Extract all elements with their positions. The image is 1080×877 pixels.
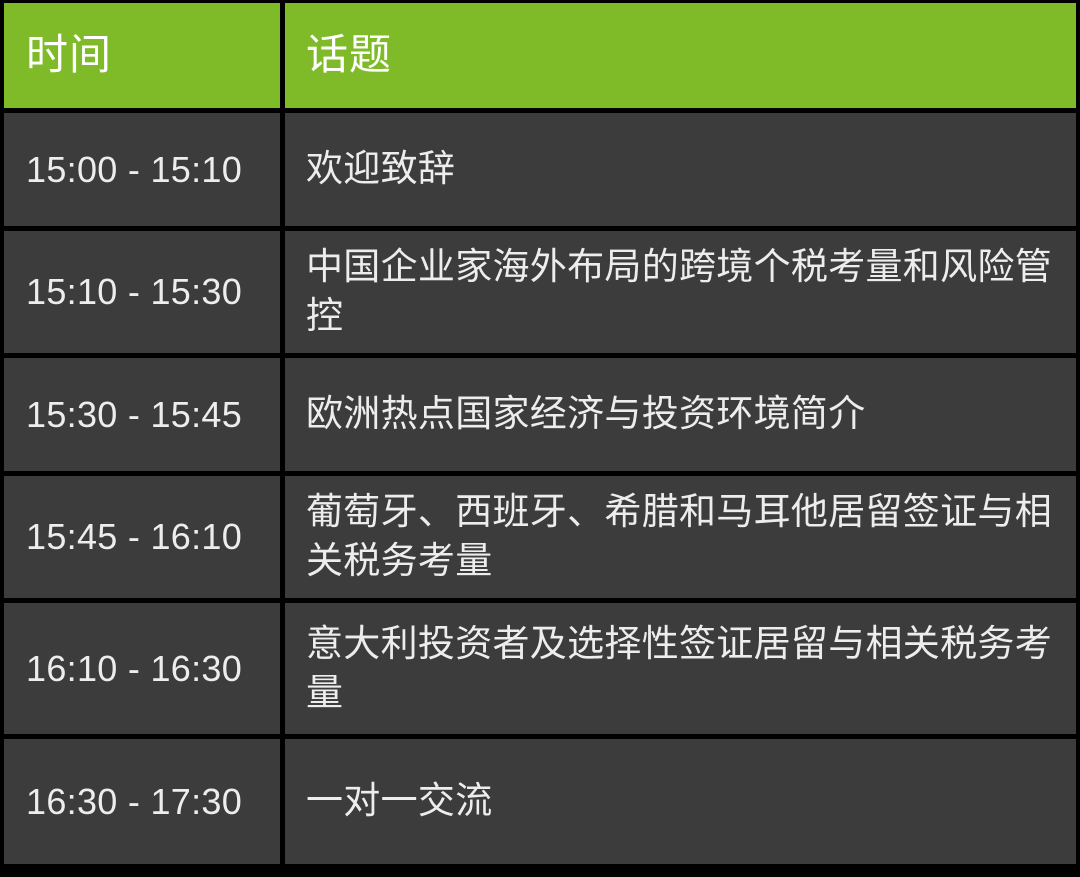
cell-topic: 欧洲热点国家经济与投资环境简介	[285, 358, 1076, 476]
time-value: 16:30 - 17:30	[26, 778, 280, 826]
topic-value: 意大利投资者及选择性签证居留与相关税务考量	[306, 620, 1066, 718]
table-row: 15:45 - 16:10 葡萄牙、西班牙、希腊和马耳他居留签证与相关税务考量	[4, 476, 1076, 603]
cell-topic: 一对一交流	[285, 739, 1076, 869]
topic-value: 中国企业家海外布局的跨境个税考量和风险管控	[306, 243, 1066, 341]
table-row: 16:10 - 16:30 意大利投资者及选择性签证居留与相关税务考量	[4, 603, 1076, 739]
time-value: 15:45 - 16:10	[26, 513, 280, 561]
table-header-row: 时间 话题	[4, 3, 1076, 113]
column-header-time-label: 时间	[26, 32, 280, 78]
cell-time: 16:30 - 17:30	[4, 739, 285, 869]
column-header-time: 时间	[4, 3, 285, 113]
table-row: 15:30 - 15:45 欧洲热点国家经济与投资环境简介	[4, 358, 1076, 476]
cell-topic: 中国企业家海外布局的跨境个税考量和风险管控	[285, 231, 1076, 358]
time-value: 15:10 - 15:30	[26, 268, 280, 316]
cell-time: 15:00 - 15:10	[4, 113, 285, 231]
topic-value: 欢迎致辞	[306, 145, 1066, 194]
column-header-topic-label: 话题	[306, 32, 1076, 78]
cell-topic: 葡萄牙、西班牙、希腊和马耳他居留签证与相关税务考量	[285, 476, 1076, 603]
time-value: 15:30 - 15:45	[26, 391, 280, 439]
cell-time: 15:45 - 16:10	[4, 476, 285, 603]
topic-value: 葡萄牙、西班牙、希腊和马耳他居留签证与相关税务考量	[306, 488, 1066, 586]
cell-topic: 意大利投资者及选择性签证居留与相关税务考量	[285, 603, 1076, 739]
topic-value: 欧洲热点国家经济与投资环境简介	[306, 390, 1066, 439]
table-row: 15:10 - 15:30 中国企业家海外布局的跨境个税考量和风险管控	[4, 231, 1076, 358]
cell-topic: 欢迎致辞	[285, 113, 1076, 231]
cell-time: 15:30 - 15:45	[4, 358, 285, 476]
time-value: 15:00 - 15:10	[26, 146, 280, 194]
time-value: 16:10 - 16:30	[26, 645, 280, 693]
cell-time: 16:10 - 16:30	[4, 603, 285, 739]
table-row: 16:30 - 17:30 一对一交流	[4, 739, 1076, 869]
agenda-schedule-table: 时间 话题 15:00 - 15:10 欢迎致辞 15:10 - 15:30 中…	[4, 3, 1076, 869]
topic-value: 一对一交流	[306, 777, 1066, 826]
table-row: 15:00 - 15:10 欢迎致辞	[4, 113, 1076, 231]
cell-time: 15:10 - 15:30	[4, 231, 285, 358]
column-header-topic: 话题	[285, 3, 1076, 113]
table-body: 15:00 - 15:10 欢迎致辞 15:10 - 15:30 中国企业家海外…	[4, 113, 1076, 869]
